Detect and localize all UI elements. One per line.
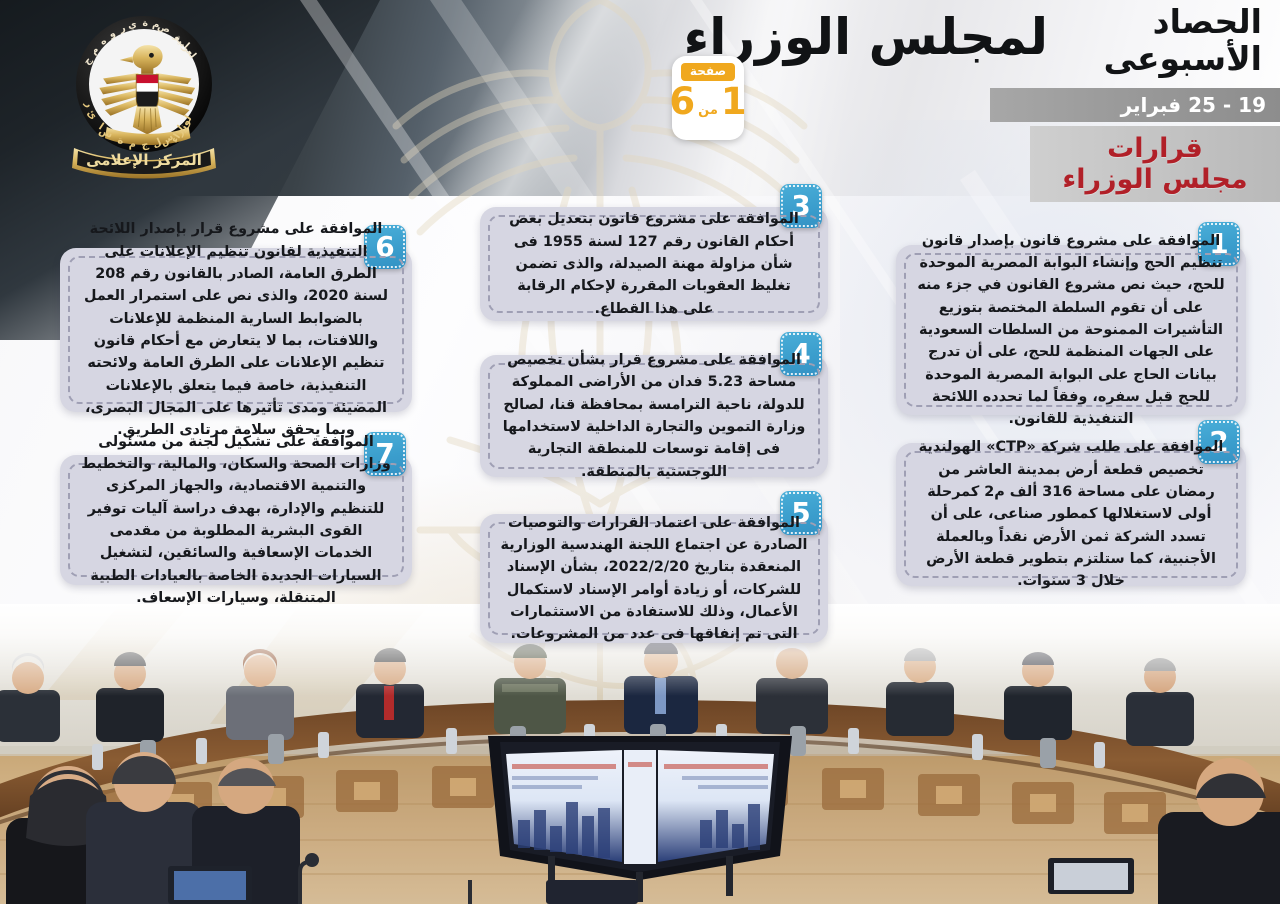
- date-bar: 19 - 25 فبراير: [990, 88, 1280, 122]
- brand-line-2: الأسبوعى: [1052, 41, 1262, 78]
- decision-card-inner: الموافقة على تشكيل لجنة من مسئولى وزارات…: [68, 463, 404, 577]
- decision-card-inner: الموافقة على مشروع قرار بشأن تخصيص مساحة…: [488, 363, 820, 469]
- decision-card-7: 7 الموافقة على تشكيل لجنة من مسئولى وزار…: [60, 455, 412, 585]
- page-badge-of: من: [698, 103, 718, 118]
- decision-text: الموافقة على مشروع قانون بإصدار قانون تن…: [916, 230, 1226, 431]
- cabinet-media-center-logo: ج م ه و ر ي ة م ص ر ا لعربية ر ئ ا س ة م: [58, 8, 230, 180]
- brand-line-1: الحصاد: [1052, 4, 1262, 41]
- decision-card-4: 4 الموافقة على مشروع قرار بشأن تخصيص مسا…: [480, 355, 828, 477]
- page-badge-label: صفحة: [681, 63, 735, 81]
- svg-text:ي: ي: [127, 19, 137, 31]
- decision-card-2: 2 الموافقة على طلب شركة «CTP» الهولندية …: [896, 443, 1246, 586]
- decision-text: الموافقة على مشروع قانون بتعديل بعض أحكا…: [500, 208, 808, 320]
- decision-card-3: 3 الموافقة على مشروع قانون بتعديل بعض أح…: [480, 207, 828, 321]
- svg-text:م: م: [128, 139, 136, 150]
- page-badge-total: 6: [669, 83, 695, 120]
- decision-card-inner: الموافقة على مشروع قانون بإصدار قانون تن…: [904, 253, 1238, 407]
- page-title: لمجلس الوزراء: [684, 8, 1048, 66]
- decision-text: الموافقة على مشروع قرار بشأن تخصيص مساحة…: [500, 349, 808, 483]
- decision-card-inner: الموافقة على مشروع قانون بتعديل بعض أحكا…: [488, 215, 820, 313]
- section-line-1: قرارات: [1107, 134, 1203, 163]
- decision-card-6: 6 الموافقة على مشروع قرار بإصدار اللائحة…: [60, 248, 412, 412]
- decision-card-inner: الموافقة على طلب شركة «CTP» الهولندية تخ…: [904, 451, 1238, 578]
- decision-card-inner: الموافقة على مشروع قرار بإصدار اللائحة ا…: [68, 256, 404, 404]
- decision-card-1: 1 الموافقة على مشروع قانون بإصدار قانون …: [896, 245, 1246, 415]
- decision-text: الموافقة على تشكيل لجنة من مسئولى وزارات…: [80, 431, 392, 610]
- cabinet-meeting-photo: [0, 604, 1280, 904]
- infographic-page: ج م ه و ر ي ة م ص ر ا لعربية ر ئ ا س ة م: [0, 0, 1280, 904]
- brand-block: الحصاد الأسبوعى: [1052, 4, 1262, 78]
- section-line-2: مجلس الوزراء: [1062, 165, 1247, 194]
- date-range-text: 19 - 25 فبراير: [1121, 93, 1266, 117]
- page-badge-numbers: 1 من 6: [669, 83, 746, 120]
- decision-text: الموافقة على طلب شركة «CTP» الهولندية تخ…: [916, 436, 1226, 592]
- section-header: قرارات مجلس الوزراء: [1030, 126, 1280, 202]
- decision-card-inner: الموافقة على اعتماد القرارات والتوصيات ا…: [488, 522, 820, 635]
- decision-text: الموافقة على مشروع قرار بإصدار اللائحة ا…: [80, 218, 392, 441]
- svg-text:المركز الإعلامى: المركز الإعلامى: [86, 151, 202, 169]
- decision-text: الموافقة على اعتماد القرارات والتوصيات ا…: [500, 512, 808, 646]
- page-badge-current: 1: [721, 83, 747, 120]
- page-number-badge: صفحة 1 من 6: [672, 56, 744, 140]
- svg-text:ة: ة: [142, 18, 148, 29]
- decision-card-5: 5 الموافقة على اعتماد القرارات والتوصيات…: [480, 514, 828, 643]
